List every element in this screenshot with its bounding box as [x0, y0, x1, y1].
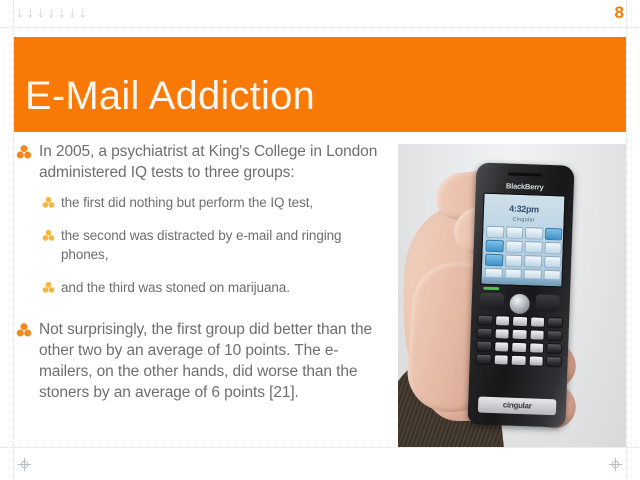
list-item-label: In 2005, a psychiatrist at King's Colleg…	[39, 141, 384, 183]
slide-header: ↓ ↓ ↓ ↓ ↓ ↓ ↓ 8	[0, 0, 640, 28]
keypad	[476, 314, 564, 367]
spacer	[14, 311, 396, 319]
left-soft-key	[480, 293, 505, 310]
screen-clock: 4:32pm	[484, 203, 564, 216]
hand-holding-blackberry-photo: BlackBerry 4:32pm Cingular	[398, 144, 626, 447]
down-arrow-icon: ↓	[79, 4, 87, 22]
guide-line-right	[626, 0, 627, 480]
list-item-label: Not surprisingly, the first group did be…	[39, 319, 384, 403]
bullet-list: In 2005, a psychiatrist at King's Colleg…	[14, 141, 396, 447]
key	[476, 353, 492, 365]
list-item-label: and the third was stoned on marijuana.	[61, 278, 290, 297]
app-icon	[524, 241, 542, 254]
key	[511, 355, 527, 367]
app-icon	[486, 226, 504, 239]
app-icon-grid	[485, 226, 563, 283]
app-icon	[544, 228, 562, 241]
registration-crosshair-icon	[609, 458, 622, 471]
key	[528, 355, 544, 367]
screen-carrier-label: Cingular	[484, 216, 564, 225]
down-arrow-icon: ↓	[48, 4, 56, 22]
spacer	[14, 264, 396, 278]
app-icon	[485, 254, 503, 267]
slide-canvas: ↓ ↓ ↓ ↓ ↓ ↓ ↓ 8 E-Mail Addiction	[0, 0, 640, 480]
key	[530, 316, 546, 328]
list-item: the second was distracted by e-mail and …	[14, 226, 396, 264]
key	[512, 329, 528, 341]
list-item: the first did nothing but perform the IQ…	[14, 193, 396, 212]
phone-screen: 4:32pm Cingular	[480, 193, 565, 288]
down-arrow-icon: ↓	[69, 4, 77, 22]
down-arrow-icon: ↓	[37, 4, 45, 22]
key	[546, 356, 562, 368]
registration-crosshair-icon	[18, 458, 31, 471]
key	[529, 342, 545, 354]
app-icon	[524, 255, 542, 268]
trefoil-bullet-icon	[42, 229, 55, 242]
key	[529, 329, 545, 341]
title-banner: E-Mail Addiction	[14, 37, 626, 132]
page-number: 8	[615, 2, 624, 24]
down-arrow-icon: ↓	[16, 4, 24, 22]
list-item: and the third was stoned on marijuana.	[14, 278, 396, 297]
phone-brand-label: BlackBerry	[476, 180, 574, 192]
key	[546, 343, 562, 355]
key	[494, 341, 510, 353]
list-item: In 2005, a psychiatrist at King's Colleg…	[14, 141, 396, 183]
app-icon	[505, 226, 523, 239]
earpiece-speaker	[508, 172, 542, 176]
call-key-indicator	[483, 287, 499, 291]
app-icon	[543, 256, 561, 269]
trefoil-bullet-icon	[16, 322, 32, 338]
trefoil-bullet-icon	[42, 196, 55, 209]
key	[547, 317, 563, 329]
key	[494, 328, 510, 340]
screen-status-bar	[481, 277, 561, 287]
list-item-label: the second was distracted by e-mail and …	[61, 226, 371, 264]
guide-line-bottom	[0, 447, 640, 448]
list-item: Not surprisingly, the first group did be…	[14, 319, 396, 403]
trefoil-bullet-icon	[16, 144, 32, 160]
blackberry-phone: BlackBerry 4:32pm Cingular	[467, 162, 574, 427]
trackball	[507, 292, 532, 317]
slide-content: In 2005, a psychiatrist at King's Colleg…	[14, 141, 626, 447]
app-icon	[525, 227, 543, 240]
phone-carrier-logo: cingular	[478, 397, 557, 416]
key	[512, 316, 528, 328]
down-arrow-icon: ↓	[27, 4, 35, 22]
key	[477, 314, 493, 326]
right-soft-key	[535, 295, 560, 312]
key	[476, 327, 492, 339]
app-icon	[505, 240, 523, 253]
app-icon	[485, 240, 503, 253]
app-icon	[544, 242, 562, 255]
app-icon	[504, 254, 522, 267]
key	[511, 342, 527, 354]
key	[547, 330, 563, 342]
key	[494, 315, 510, 327]
spacer	[14, 297, 396, 311]
page-title: E-Mail Addiction	[14, 74, 315, 132]
key	[493, 354, 509, 366]
spacer	[14, 212, 396, 226]
down-arrow-icon: ↓	[58, 4, 66, 22]
spacer	[14, 183, 396, 193]
down-arrow-row: ↓ ↓ ↓ ↓ ↓ ↓ ↓	[16, 4, 87, 22]
trefoil-bullet-icon	[42, 281, 55, 294]
key	[476, 340, 492, 352]
list-item-label: the first did nothing but perform the IQ…	[61, 193, 313, 212]
